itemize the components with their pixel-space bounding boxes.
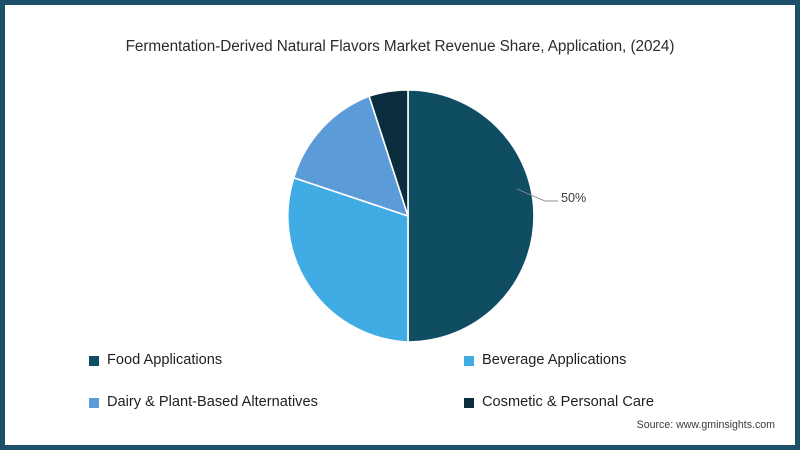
chart-legend: Food Applications Beverage Applications … (89, 353, 709, 437)
legend-swatch-icon-food-applications (89, 356, 99, 366)
source-attribution: Source: www.gminsights.com (637, 419, 775, 431)
legend-row: Dairy & Plant-Based Alternatives Cosmeti… (89, 395, 709, 437)
pie-value-label-food-applications: 50% (561, 191, 586, 205)
pie-slice-food-applications[interactable] (408, 90, 534, 342)
legend-label-cosmetic-personal-care: Cosmetic & Personal Care (482, 395, 654, 410)
legend-swatch-icon-beverage-applications (464, 356, 474, 366)
legend-swatch-icon-cosmetic-personal-care (464, 398, 474, 408)
legend-item-dairy-plant-based-alternatives[interactable]: Dairy & Plant-Based Alternatives (89, 395, 464, 410)
legend-label-beverage-applications: Beverage Applications (482, 353, 626, 368)
legend-item-beverage-applications[interactable]: Beverage Applications (464, 353, 709, 368)
legend-label-food-applications: Food Applications (107, 353, 222, 368)
legend-swatch-icon-dairy-plant-based-alternatives (89, 398, 99, 408)
chart-card: Fermentation-Derived Natural Flavors Mar… (0, 0, 800, 450)
legend-label-dairy-plant-based-alternatives: Dairy & Plant-Based Alternatives (107, 395, 318, 410)
legend-item-cosmetic-personal-care[interactable]: Cosmetic & Personal Care (464, 395, 709, 410)
legend-item-food-applications[interactable]: Food Applications (89, 353, 464, 368)
legend-row: Food Applications Beverage Applications (89, 353, 709, 395)
